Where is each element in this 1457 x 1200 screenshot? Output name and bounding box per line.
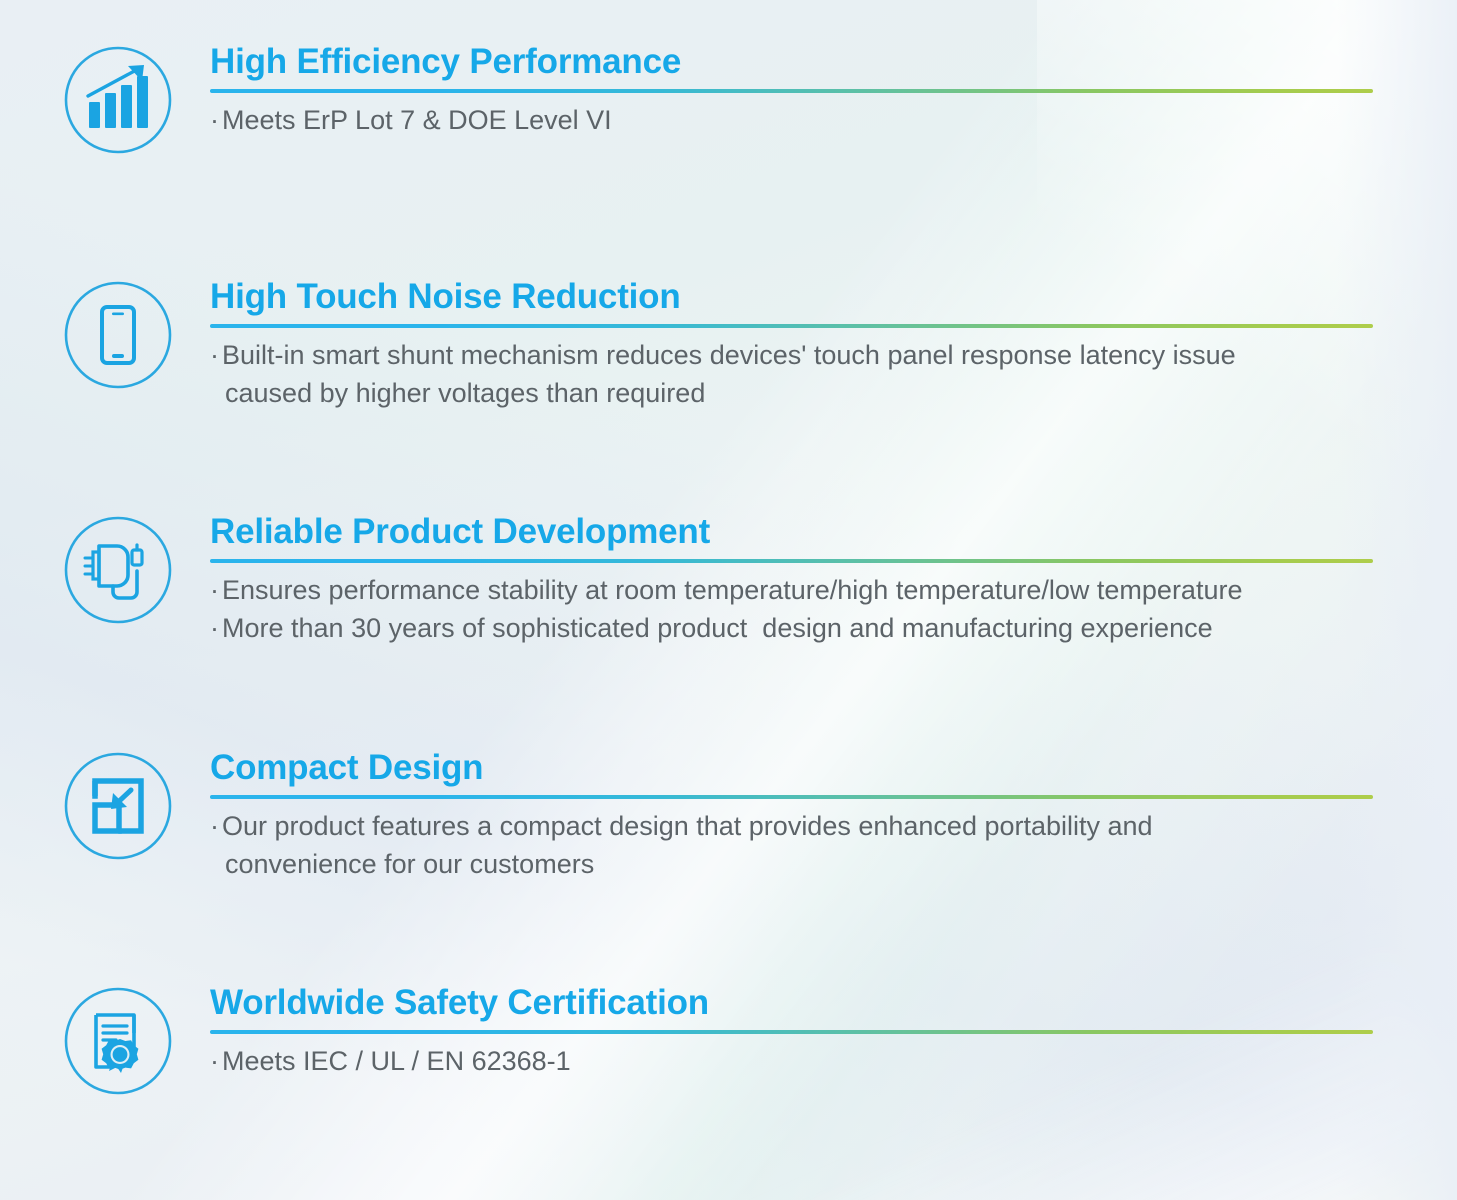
feature-content: High Efficiency Performance ·Meets ErP L…: [210, 44, 1457, 140]
smartphone-icon: [62, 279, 174, 391]
bullet-marker: ·: [210, 811, 219, 841]
feature-title: High Efficiency Performance: [210, 44, 1377, 80]
feature-divider: [210, 1030, 1373, 1034]
feature-icon-slot: [58, 44, 178, 156]
bullet-text: Built-in smart shunt mechanism reduces d…: [210, 340, 1236, 408]
feature-icon-slot: [58, 514, 178, 626]
bullet-text: More than 30 years of sophisticated prod…: [222, 613, 1213, 643]
feature-bullets: ·Ensures performance stability at room t…: [210, 572, 1377, 648]
bullet-marker: ·: [210, 575, 219, 605]
feature-title: Worldwide Safety Certification: [210, 985, 1377, 1021]
bullet-line: ·Ensures performance stability at room t…: [210, 572, 1377, 610]
bullet-line: ·Meets ErP Lot 7 & DOE Level VI: [210, 102, 1377, 140]
power-adapter-icon: [62, 514, 174, 626]
feature-content: Reliable Product Development ·Ensures pe…: [210, 514, 1457, 648]
bullet-text: Our product features a compact design th…: [210, 811, 1153, 879]
feature-item-compact-design: Compact Design ·Our product features a c…: [0, 750, 1457, 884]
feature-item-reliable-product-development: Reliable Product Development ·Ensures pe…: [0, 514, 1457, 648]
feature-divider: [210, 324, 1373, 328]
feature-icon-slot: [58, 985, 178, 1097]
feature-divider: [210, 89, 1373, 93]
bullet-text: Meets IEC / UL / EN 62368-1: [222, 1046, 571, 1076]
feature-content: Worldwide Safety Certification ·Meets IE…: [210, 985, 1457, 1081]
feature-icon-slot: [58, 750, 178, 862]
bullet-marker: ·: [210, 1046, 219, 1076]
feature-icon-slot: [58, 279, 178, 391]
feature-divider: [210, 795, 1373, 799]
feature-content: Compact Design ·Our product features a c…: [210, 750, 1457, 884]
feature-bullets: ·Our product features a compact design t…: [210, 808, 1377, 884]
bullet-line: ·More than 30 years of sophisticated pro…: [210, 610, 1377, 648]
feature-bullets: ·Built-in smart shunt mechanism reduces …: [210, 337, 1377, 413]
bullet-line: ·Our product features a compact design t…: [210, 808, 1377, 884]
feature-divider: [210, 559, 1373, 563]
bullet-marker: ·: [210, 340, 219, 370]
bullet-text: Ensures performance stability at room te…: [222, 575, 1242, 605]
feature-item-high-touch-noise-reduction: High Touch Noise Reduction ·Built-in sma…: [0, 279, 1457, 413]
bullet-marker: ·: [210, 105, 219, 135]
feature-title: Compact Design: [210, 750, 1377, 786]
feature-title: Reliable Product Development: [210, 514, 1377, 550]
feature-highlights-page: High Efficiency Performance ·Meets ErP L…: [0, 0, 1457, 1200]
feature-title: High Touch Noise Reduction: [210, 279, 1377, 315]
bullet-line: ·Meets IEC / UL / EN 62368-1: [210, 1043, 1377, 1081]
certificate-award-icon: [62, 985, 174, 1097]
feature-bullets: ·Meets ErP Lot 7 & DOE Level VI: [210, 102, 1377, 140]
feature-bullets: ·Meets IEC / UL / EN 62368-1: [210, 1043, 1377, 1081]
feature-content: High Touch Noise Reduction ·Built-in sma…: [210, 279, 1457, 413]
bullet-text: Meets ErP Lot 7 & DOE Level VI: [222, 105, 612, 135]
bullet-line: ·Built-in smart shunt mechanism reduces …: [210, 337, 1377, 413]
bullet-marker: ·: [210, 613, 219, 643]
bar-chart-growth-icon: [62, 44, 174, 156]
compact-resize-icon: [62, 750, 174, 862]
feature-item-worldwide-safety-certification: Worldwide Safety Certification ·Meets IE…: [0, 985, 1457, 1097]
feature-item-high-efficiency-performance: High Efficiency Performance ·Meets ErP L…: [0, 44, 1457, 156]
